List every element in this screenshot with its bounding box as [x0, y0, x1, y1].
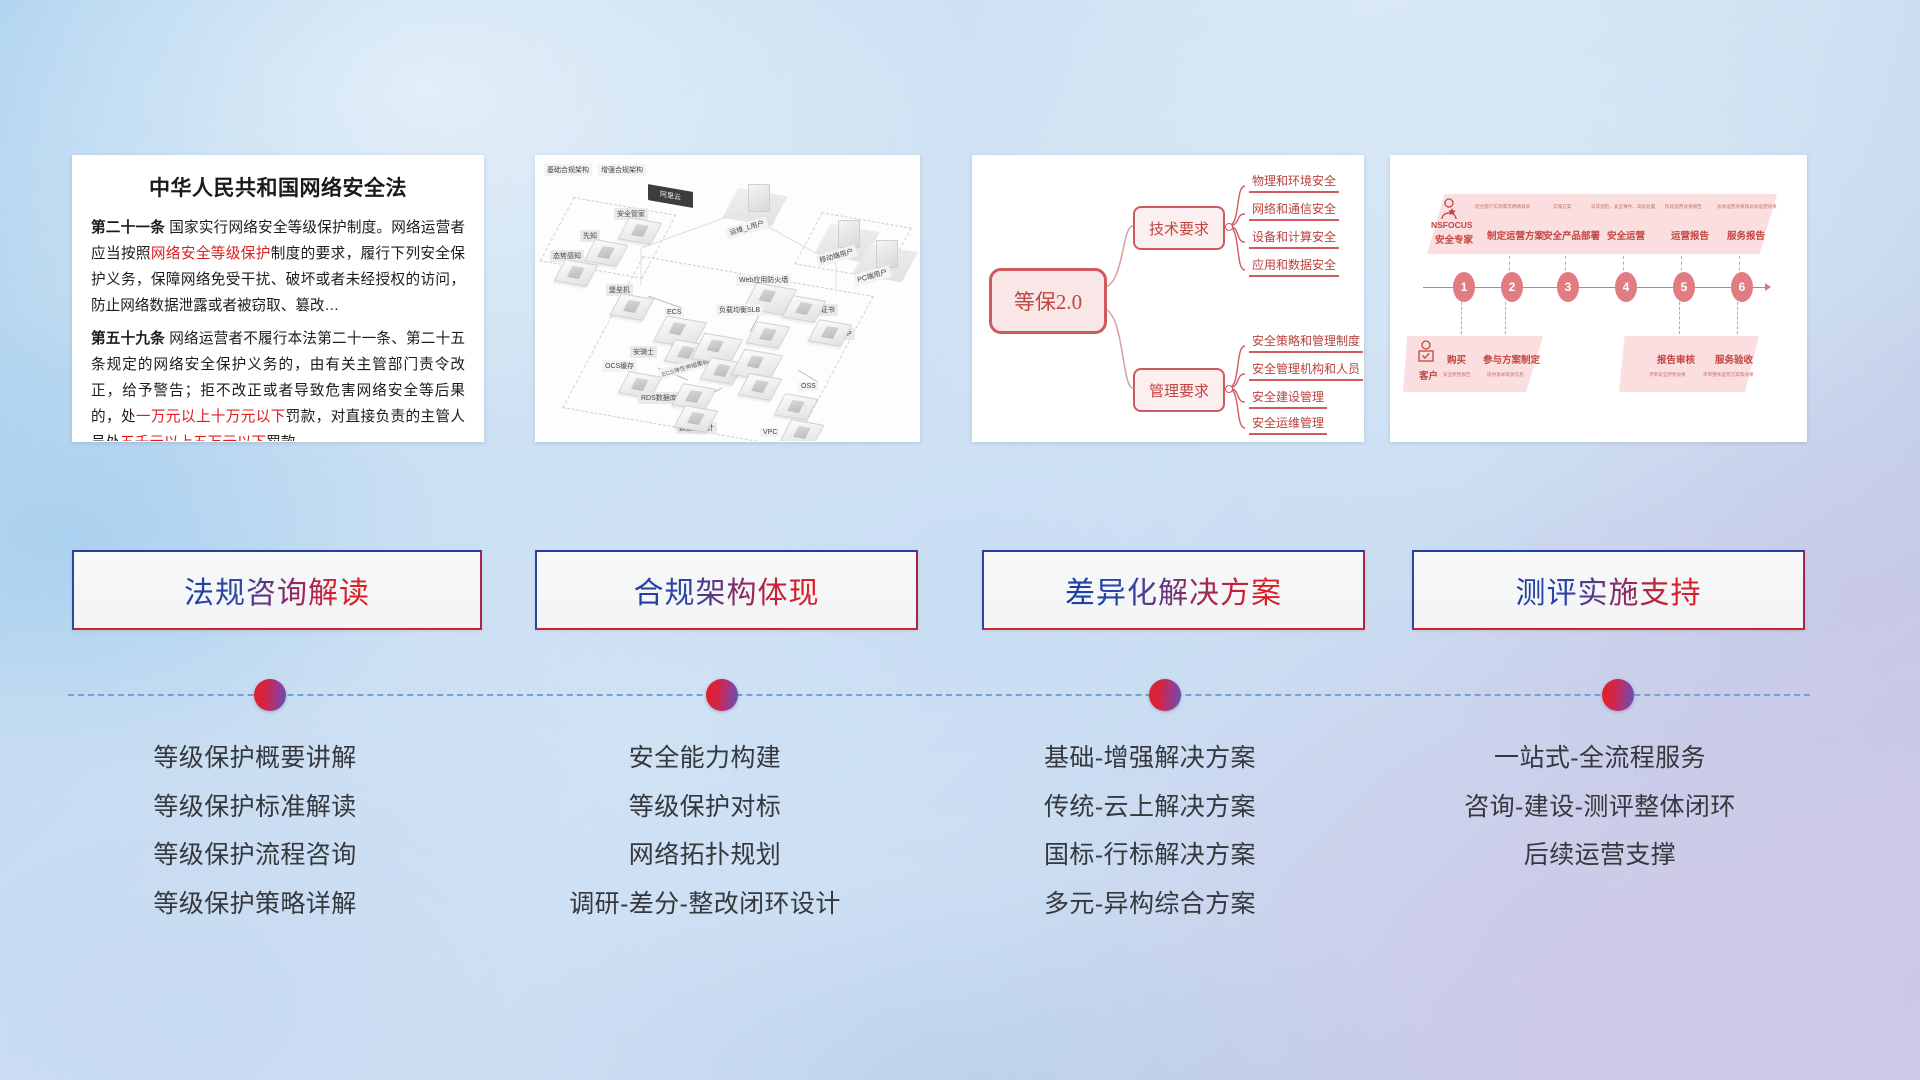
timeline-dot-2 — [706, 679, 738, 711]
feature-item: 等级保护概要讲解 — [55, 745, 455, 773]
article-59-text-c: 罚款。 — [266, 435, 310, 442]
nsfocus-expert-name: NSFOCUS — [1431, 220, 1473, 230]
arch-node-label-oss: OSS — [798, 382, 819, 391]
nsfocus-bottom-sub-3: 评审安全所售效果 — [1649, 372, 1686, 378]
timeline-dot-3 — [1149, 679, 1181, 711]
nsfocus-step-1: 1 — [1453, 272, 1475, 302]
nsfocus-bottom-label-3: 报告审核 — [1657, 352, 1695, 366]
mindmap-leaf-device: 设备和计算安全 — [1249, 228, 1339, 249]
title-box-compliance-architecture[interactable]: 合规架构体现 — [535, 550, 918, 630]
title-box-evaluation-support[interactable]: 测评实施支持 — [1412, 550, 1805, 630]
mindmap-leaf-construction: 安全建设管理 — [1249, 388, 1327, 409]
feature-column-1: 等级保护概要讲解 等级保护标准解读 等级保护流程咨询 等级保护策略详解 — [55, 745, 455, 939]
nsfocus-bottom-label-2: 参与方案制定 — [1483, 352, 1540, 366]
feature-item: 多元-异构综合方案 — [950, 891, 1350, 919]
nsfocus-bottom-label-1: 购买 — [1447, 352, 1466, 366]
feature-item: 基础-增强解决方案 — [950, 745, 1350, 773]
feature-item: 后续运营支撑 — [1385, 842, 1815, 870]
article-59-highlight-2: 五千元以上五万元以下 — [120, 435, 266, 442]
card-nsfocus-timeline: NSFOCUS 安全专家 客户 结合客户实际需求明确目具 制定运营方案 实施方案… — [1390, 155, 1807, 442]
feature-item: 一站式-全流程服务 — [1385, 745, 1815, 773]
arch-node-label-agent: 安骑士 — [630, 346, 657, 358]
mindmap-leaf-org: 安全管理机构和人员 — [1249, 360, 1363, 381]
feature-item: 咨询-建设-测评整体闭环 — [1385, 794, 1815, 822]
article-21-label: 第二十一条 — [91, 220, 165, 236]
nsfocus-top-label-3: 安全运营 — [1607, 228, 1645, 242]
architecture-diagram: 基础合规架构 增强合规架构 阿里云 安全管家 先知 — [536, 156, 919, 441]
feature-item: 等级保护标准解读 — [55, 794, 455, 822]
title-box-regulation-consulting[interactable]: 法规咨询解读 — [72, 550, 482, 630]
nsfocus-top-label-4: 运营报告 — [1671, 228, 1709, 242]
nsfocus-step-5: 5 — [1673, 272, 1695, 302]
feature-column-2: 安全能力构建 等级保护对标 网络拓扑规划 调研-差分-整改闭环设计 — [505, 745, 905, 939]
title-label-1: 法规咨询解读 — [184, 568, 370, 612]
feature-column-4: 一站式-全流程服务 咨询-建设-测评整体闭环 后续运营支撑 — [1385, 745, 1815, 891]
title-label-2: 合规架构体现 — [634, 568, 820, 612]
title-label-4: 测评实施支持 — [1516, 568, 1702, 612]
timeline-dot-4 — [1602, 679, 1634, 711]
nsfocus-expert-role: 安全专家 — [1435, 232, 1473, 246]
title-label-3: 差异化解决方案 — [1065, 568, 1282, 612]
nsfocus-bottom-sub-2: 提供基本现状信息 — [1487, 372, 1524, 378]
nsfocus-top-sub-5: 总体运营效果和总体运营效果 — [1717, 204, 1777, 210]
feature-item: 国标-行标解决方案 — [950, 842, 1350, 870]
feature-item: 安全能力构建 — [505, 745, 905, 773]
feature-item: 等级保护流程咨询 — [55, 842, 455, 870]
article-21-highlight: 网络安全等级保护 — [151, 246, 271, 262]
nsfocus-step-3: 3 — [1557, 272, 1579, 302]
nsfocus-top-sub-1: 结合客户实际需求明确目具 — [1475, 204, 1530, 210]
feature-column-3: 基础-增强解决方案 传统-云上解决方案 国标-行标解决方案 多元-异构综合方案 — [950, 745, 1350, 939]
mindmap-leaf-physical: 物理和环境安全 — [1249, 172, 1339, 193]
nsfocus-axis-arrow-icon — [1765, 283, 1771, 291]
arch-connectors — [536, 156, 919, 441]
nsfocus-top-label-1: 制定运营方案 — [1487, 228, 1544, 242]
mindmap-leaf-policy: 安全策略和管理制度 — [1249, 332, 1363, 353]
feature-item: 传统-云上解决方案 — [950, 794, 1350, 822]
law-title: 中华人民共和国网络安全法 — [91, 172, 465, 202]
nsfocus-bottom-label-4: 服务验收 — [1715, 352, 1753, 366]
feature-item: 等级保护策略详解 — [55, 891, 455, 919]
law-article-21: 第二十一条 国家实行网络安全等级保护制度。网络运营者应当按照网络安全等级保护制度… — [91, 215, 465, 319]
nsfocus-diagram: NSFOCUS 安全专家 客户 结合客户实际需求明确目具 制定运营方案 实施方案… — [1391, 156, 1806, 441]
nsfocus-top-sub-2: 实施方案 — [1553, 204, 1571, 210]
law-body: 中华人民共和国网络安全法 第二十一条 国家实行网络安全等级保护制度。网络运营者应… — [73, 156, 483, 441]
slide-stage: 中华人民共和国网络安全法 第二十一条 国家实行网络安全等级保护制度。网络运营者应… — [0, 0, 1920, 1080]
arch-node-label-slb: 负载均衡SLB — [716, 304, 763, 316]
nsfocus-step-4: 4 — [1615, 272, 1637, 302]
nsfocus-top-label-2: 安全产品部署 — [1543, 228, 1600, 242]
article-59-highlight-1: 一万元以上十万元以下 — [136, 409, 286, 425]
card-law-text: 中华人民共和国网络安全法 第二十一条 国家实行网络安全等级保护制度。网络运营者应… — [72, 155, 484, 442]
nsfocus-top-sub-4: 阶段运营效果报告 — [1665, 204, 1702, 210]
law-article-59: 第五十九条 网络运营者不履行本法第二十一条、第二十五条规定的网络安全保护义务的，… — [91, 326, 465, 442]
title-box-differentiated-solution[interactable]: 差异化解决方案 — [982, 550, 1365, 630]
card-mindmap: 等保2.0 技术要求 物理和环境安全 网络和通信安全 设备和计算安全 应用和数据… — [972, 155, 1364, 442]
expert-person-icon — [1439, 198, 1459, 220]
nsfocus-customer-role: 客户 — [1419, 368, 1438, 382]
mindmap-branch-management: 管理要求 — [1133, 368, 1225, 412]
customer-person-icon — [1417, 340, 1435, 366]
timeline-dot-1 — [254, 679, 286, 711]
mindmap-leaf-network: 网络和通信安全 — [1249, 200, 1339, 221]
mindmap-leaf-ops: 安全运维管理 — [1249, 414, 1327, 435]
mindmap-diagram: 等保2.0 技术要求 物理和环境安全 网络和通信安全 设备和计算安全 应用和数据… — [973, 156, 1363, 441]
card-cloud-architecture: 基础合规架构 增强合规架构 阿里云 安全管家 先知 — [535, 155, 920, 442]
mindmap-branch-technical: 技术要求 — [1133, 206, 1225, 250]
timeline-dashed-line — [68, 694, 1810, 696]
feature-item: 网络拓扑规划 — [505, 842, 905, 870]
mindmap-leaf-application: 应用和数据安全 — [1249, 256, 1339, 277]
arch-node-label-vpc: VPC — [760, 428, 780, 437]
nsfocus-step-6: 6 — [1731, 272, 1753, 302]
nsfocus-top-sub-3: 日常巡检、安全事件、高危处置 — [1591, 204, 1655, 210]
feature-item: 调研-差分-整改闭环设计 — [505, 891, 905, 919]
feature-item: 等级保护对标 — [505, 794, 905, 822]
nsfocus-bottom-sub-4: 评审整体运营方案和效果 — [1703, 372, 1754, 378]
mindmap-collapse-icon-technical[interactable] — [1225, 223, 1233, 231]
mindmap-root: 等保2.0 — [989, 268, 1107, 334]
mindmap-collapse-icon-management[interactable] — [1225, 385, 1233, 393]
article-59-label: 第五十九条 — [91, 331, 165, 347]
arch-node-label-ocs: OCS缓存 — [602, 360, 637, 372]
nsfocus-step-2: 2 — [1501, 272, 1523, 302]
nsfocus-bottom-sub-1: 安全所售报告 — [1443, 372, 1471, 378]
nsfocus-expert-band — [1427, 194, 1777, 254]
nsfocus-top-label-5: 服务报告 — [1727, 228, 1765, 242]
